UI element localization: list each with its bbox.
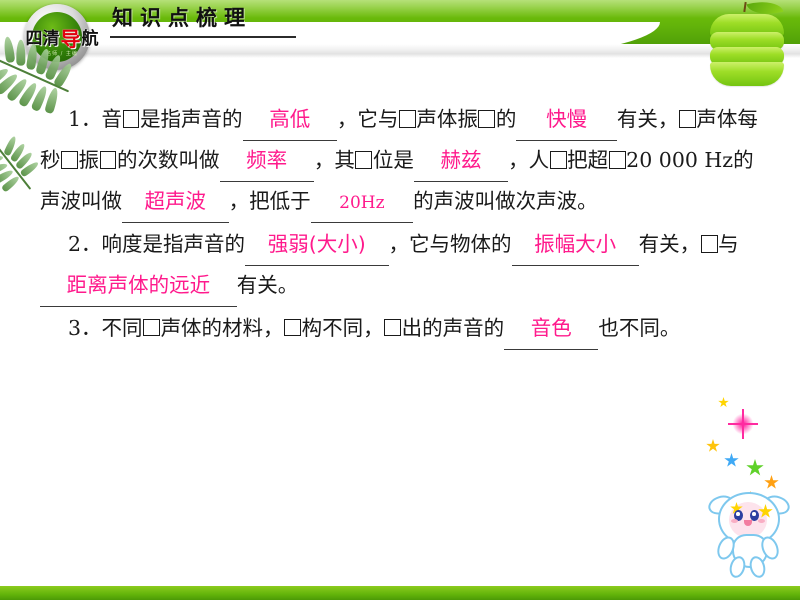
answer-text: 强弱(大小) (268, 232, 366, 256)
missing-glyph-box (550, 151, 567, 169)
question-text: 有关。 (237, 273, 299, 297)
missing-glyph-box (123, 110, 140, 128)
page-title: 知识点梳理 (112, 7, 252, 28)
answer-blank[interactable]: 振幅大小 (512, 225, 639, 266)
answer-text: 赫兹 (440, 148, 481, 172)
answer-blank[interactable]: 音色 (504, 309, 598, 350)
bunny-mascot-icon (706, 486, 792, 578)
question-text: 的 (496, 107, 517, 131)
yellow-star-icon (706, 439, 720, 453)
question-text: 振 (79, 148, 100, 172)
question-paragraph: 3．不同声体的材料，构不同，出的声音的音色也不同。 (40, 309, 766, 350)
answer-text: 振幅大小 (534, 232, 616, 256)
question-paragraph: 1．音是指声音的高低，它与声体振的快慢有关，声体每秒振的次数叫做频率，其位是赫兹… (40, 100, 766, 223)
missing-glyph-box (609, 151, 626, 169)
question-text: 把超 (567, 148, 608, 172)
apple-slice-4 (710, 62, 784, 86)
question-text: 声体的材料， (161, 316, 284, 340)
question-text: 声体振 (416, 107, 478, 131)
mascot-blush-right (758, 519, 765, 523)
missing-glyph-box (61, 151, 78, 169)
missing-glyph-box (284, 319, 301, 337)
answer-blank[interactable]: 强弱(大小) (245, 225, 389, 266)
apple-icon (700, 2, 792, 88)
footer-green-bar (0, 586, 800, 600)
green-star-icon (746, 459, 764, 477)
question-text: 的声波叫做次声波。 (413, 189, 598, 213)
question-text: 不同 (102, 316, 143, 340)
answer-blank[interactable]: 超声波 (122, 182, 229, 223)
answer-blank[interactable]: 快慢 (516, 100, 616, 141)
question-text: 出的声音的 (402, 316, 505, 340)
question-text: 位是 (373, 148, 414, 172)
question-text: ，人 (508, 148, 549, 172)
answer-text: 频率 (246, 148, 287, 172)
missing-glyph-box (355, 151, 372, 169)
blue-star-icon (724, 453, 739, 468)
question-text: 也不同。 (598, 316, 680, 340)
mascot-blush-left (731, 519, 738, 523)
question-text: 音 (102, 107, 123, 131)
question-text: ，其 (314, 148, 355, 172)
question-number: 1． (68, 107, 102, 131)
answer-blank[interactable]: 频率 (220, 141, 314, 182)
banner-bottom-strip (0, 44, 800, 58)
answer-text: 高低 (269, 107, 310, 131)
missing-glyph-box (143, 319, 160, 337)
missing-glyph-box (478, 110, 495, 128)
question-number: 3． (68, 316, 102, 340)
missing-glyph-box (100, 151, 117, 169)
question-text: ，它与物体的 (389, 232, 512, 256)
fern-leaflet (16, 40, 25, 66)
lesson-content: 1．音是指声音的高低，它与声体振的快慢有关，声体每秒振的次数叫做频率，其位是赫兹… (40, 100, 766, 352)
question-text: 是指声音的 (140, 107, 243, 131)
title-underline (110, 36, 296, 38)
answer-blank[interactable]: 高低 (243, 100, 337, 141)
question-text: 的次数叫做 (117, 148, 220, 172)
answer-text: 20Hz (339, 193, 384, 213)
question-number: 2． (68, 232, 102, 256)
logo-text-hang: 航 (82, 31, 99, 48)
answer-text: 超声波 (145, 189, 207, 213)
missing-glyph-box (384, 319, 401, 337)
answer-blank[interactable]: 赫兹 (414, 141, 508, 182)
question-text: 有关， (617, 107, 679, 131)
question-text: 有关， (639, 232, 701, 256)
missing-glyph-box (679, 110, 696, 128)
answer-text: 快慢 (546, 107, 587, 131)
question-text: 响度是指声音的 (102, 232, 246, 256)
question-text: ，把低于 (229, 189, 311, 213)
slide-canvas: 四清 导 航 名师 / 主编 知识点梳理 (0, 0, 800, 600)
pink-sparkle-icon (728, 409, 758, 439)
answer-text: 距离声体的远近 (67, 273, 211, 297)
answer-blank[interactable]: 距离声体的远近 (40, 266, 237, 307)
answer-blank[interactable]: 20Hz (311, 182, 414, 223)
question-text: 构不同， (302, 316, 384, 340)
question-text: ，它与 (337, 107, 399, 131)
question-paragraph: 2．响度是指声音的强弱(大小)，它与物体的振幅大小有关，与距离声体的远近有关。 (40, 225, 766, 307)
missing-glyph-box (701, 235, 718, 253)
small-yellow-star-icon (718, 397, 729, 408)
question-text: 与 (718, 232, 739, 256)
logo-text-dao: 导 (61, 29, 81, 49)
missing-glyph-box (399, 110, 416, 128)
answer-text: 音色 (531, 316, 572, 340)
